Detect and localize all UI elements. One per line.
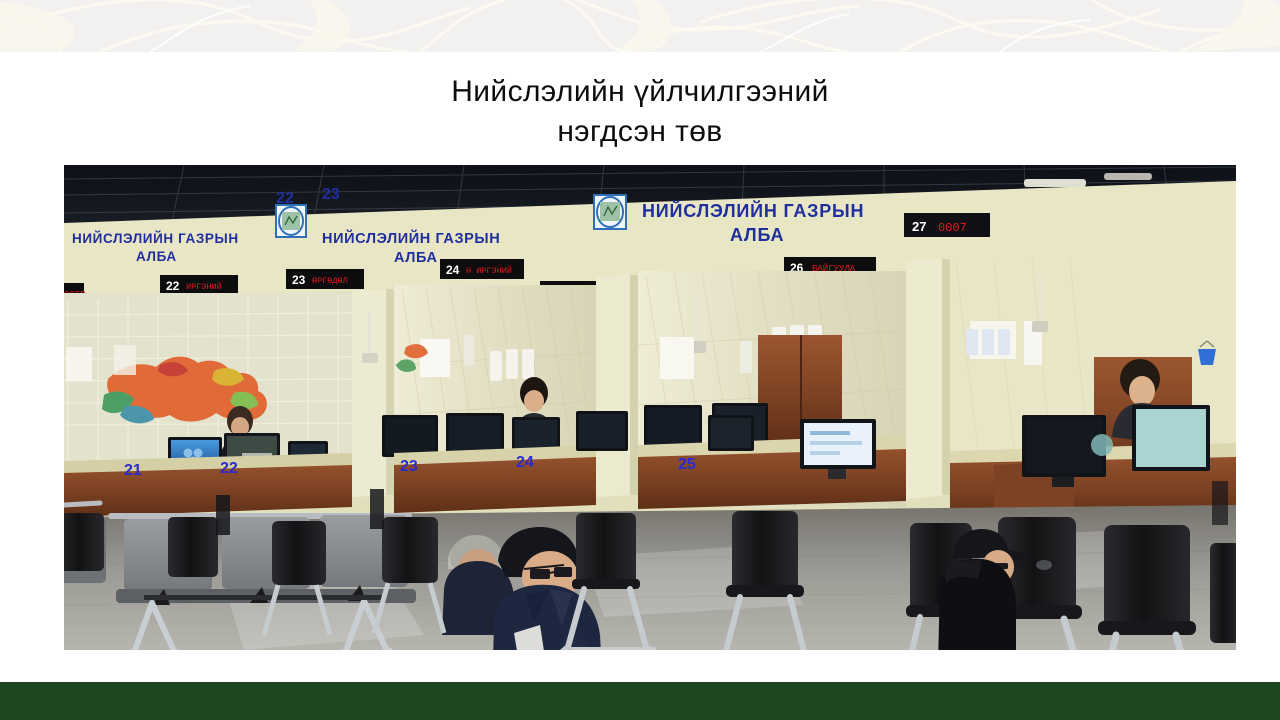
svg-text:АЛБА: АЛБА [394,250,438,266]
emblem-icon [276,205,306,237]
wall-dispenser [966,329,1010,355]
svg-text:ИРГЭНИЙ: ИРГЭНИЙ [186,281,222,292]
wall-dispenser [490,349,534,381]
footer-green-band [0,682,1280,720]
svg-text:НИЙСЛЭЛИЙН ГАЗРЫН: НИЙСЛЭЛИЙН ГАЗРЫН [642,200,864,221]
led-display: 27 0007 [904,213,990,237]
monitor [576,411,628,451]
header-decorative-band [0,0,1280,52]
svg-text:27: 27 [912,219,926,234]
poster [114,345,136,375]
counter-number: 23 [400,458,418,475]
title-line-1: Нийслэлийн үйлчилгээний [0,72,1280,112]
svg-text:0007: 0007 [938,221,967,235]
poster [420,339,450,377]
slide-title: Нийслэлийн үйлчилгээний нэгдсэн төв [0,72,1280,152]
svg-text:АЛБА: АЛБА [730,225,784,245]
office-chair [168,517,218,577]
office-chair [64,513,104,571]
monitor [382,415,438,457]
counter-number: 24 [516,454,534,471]
overhead-number: 23 [322,186,340,203]
svg-text:ӨРГӨДӨЛ: ӨРГӨДӨЛ [312,276,348,286]
led-display: 23 ӨРГӨДӨЛ [286,269,364,289]
led-display: 24 Н ИРГЭНИЙ [440,259,524,279]
counter-number: 22 [220,460,238,477]
svg-text:23: 23 [292,273,306,287]
emblem-icon [594,195,626,229]
svg-text:24: 24 [446,263,460,277]
poster [660,337,694,379]
monitor [708,415,754,451]
svg-text:НИЙСЛЭЛИЙН ГАЗРЫН: НИЙСЛЭЛИЙН ГАЗРЫН [72,231,239,246]
svg-text:АЛБА: АЛБА [136,249,177,264]
svg-text:Н ИРГЭНИЙ: Н ИРГЭНИЙ [466,265,512,276]
svg-text:НИЙСЛЭЛИЙН ГАЗРЫН: НИЙСЛЭЛИЙН ГАЗРЫН [322,229,500,247]
svg-text:22: 22 [166,279,180,293]
counter-number: 21 [124,462,142,479]
title-line-2: нэгдсэн төв [0,112,1280,152]
service-center-photo: 22 23 НИЙСЛЭЛИЙН ГАЗРЫН АЛБА НИЙСЛЭЛИЙН … [64,165,1236,650]
office-chair [1210,543,1236,643]
led-display: 22 ИРГЭНИЙ [160,275,238,295]
presentation-slide: Нийслэлийн үйлчилгээний нэгдсэн төв [0,0,1280,720]
counter-number: 25 [678,456,696,473]
monitor [644,405,702,449]
poster [66,347,92,381]
